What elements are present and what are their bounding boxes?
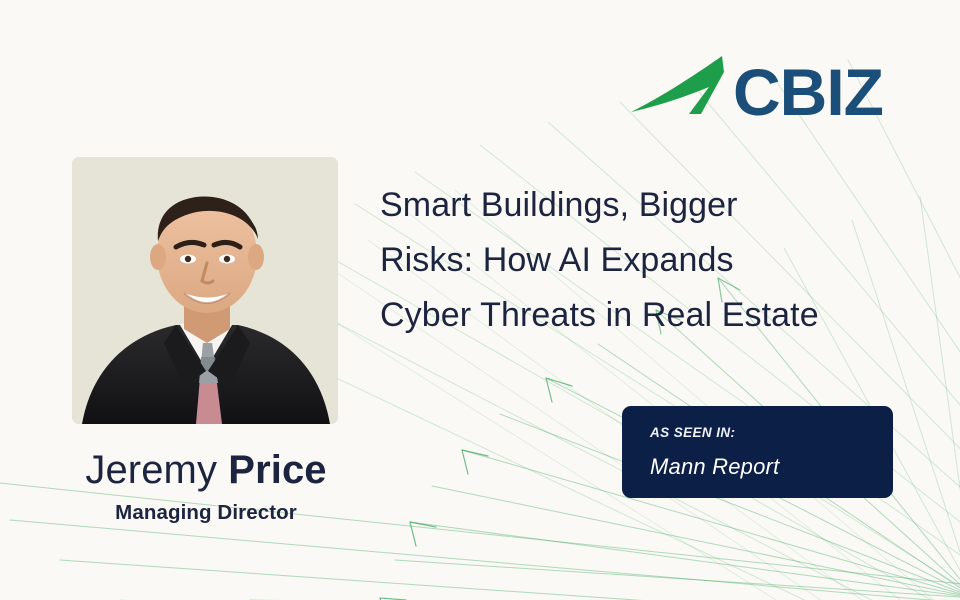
- as-seen-in-badge: AS SEEN IN: Mann Report: [622, 406, 893, 498]
- cbiz-logo: CBIZ: [627, 52, 899, 134]
- person-name: Jeremy Price: [20, 446, 392, 494]
- cbiz-swoosh-arrow-icon: [631, 56, 724, 114]
- as-seen-in-label: AS SEEN IN:: [650, 425, 893, 441]
- page-title: Smart Buildings, Bigger Risks: How AI Ex…: [380, 178, 910, 343]
- svg-text:CBIZ: CBIZ: [733, 55, 883, 129]
- headline-line-2: Risks: How AI Expands: [380, 233, 910, 288]
- publication-name: Mann Report: [650, 454, 893, 480]
- person-job-title: Managing Director: [20, 500, 392, 526]
- person-first-name: Jeremy: [85, 448, 217, 492]
- headline-line-3: Cyber Threats in Real Estate: [380, 288, 910, 343]
- headshot-photo: [72, 157, 338, 424]
- person-last-name: Price: [228, 448, 326, 492]
- headline-line-1: Smart Buildings, Bigger: [380, 178, 910, 233]
- promo-card: CBIZ: [0, 0, 960, 600]
- person-info: Jeremy Price Managing Director: [20, 446, 392, 526]
